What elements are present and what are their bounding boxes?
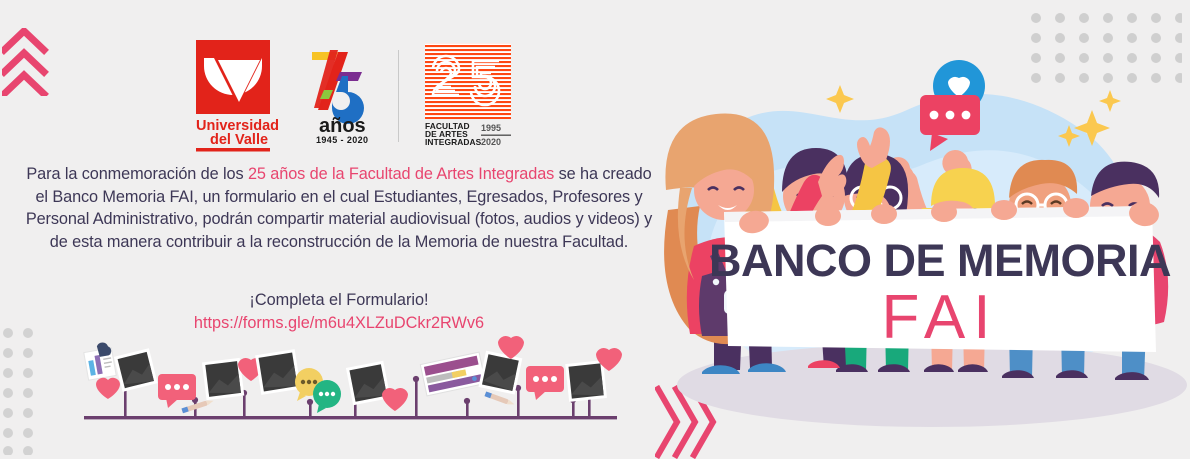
photo-icon [114,348,158,392]
document-icon [83,341,117,380]
promotional-banner: Universidad del Valle años 1945 - 2020 [0,0,1190,459]
body-paragraph: Para la conmemoración de los 25 años de … [24,163,654,253]
banner-subtitle: FAI [881,283,998,352]
cta-prompt: ¡Completa el Formulario! [24,289,654,311]
photo-icon [478,351,522,395]
75-anos-logo: años 1945 - 2020 [306,46,374,146]
logo-row: Universidad del Valle años 1945 - 2020 [196,40,515,152]
speech-bubble-icon [158,374,196,408]
banner-title: BANCO DE MEMORIA [709,235,1171,286]
dot-grid-decoration-bottom-left [0,325,42,455]
anos-years: 1945 - 2020 [316,135,368,145]
anos-label: años [319,115,366,137]
students-holding-banner-illustration: BANCO DE MEMORIA FAI [632,0,1190,459]
fai-line3: INTEGRADAS [425,137,482,147]
paragraph-lead: Para la conmemoración de los [26,165,248,183]
paragraph-highlight: 25 años de la Facultad de Artes Integrad… [248,165,554,183]
speech-bubble-icon [313,380,341,413]
logo-divider [398,50,399,142]
heart-icon [382,388,408,411]
memory-timeline-illustration [78,336,623,436]
facultad-artes-integradas-25-logo: FACULTAD DE ARTES INTEGRADAS 1995 2020 [423,41,515,151]
universidad-del-valle-logo: Universidad del Valle [196,40,288,152]
form-url-link[interactable]: https://forms.gle/m6u4XLZuDCkr2RWv6 [24,311,654,335]
speech-bubble-icon [526,366,564,400]
photo-icon [202,358,244,400]
fai-year-from: 1995 [481,123,501,133]
call-to-action: ¡Completa el Formulario! https://forms.g… [24,289,654,335]
banner-sign: BANCO DE MEMORIA FAI [709,206,1171,352]
heart-icon [96,378,120,399]
fai-year-to: 2020 [481,137,501,147]
univalle-line2: del Valle [210,132,268,148]
sparkle-icon [826,85,854,113]
sparkle-icon [1099,90,1121,112]
photo-icon [255,349,301,395]
chevron-up-decoration [2,28,50,96]
photo-icon [565,360,607,402]
pencil-icon [485,391,516,406]
video-tape-icon [420,352,485,396]
